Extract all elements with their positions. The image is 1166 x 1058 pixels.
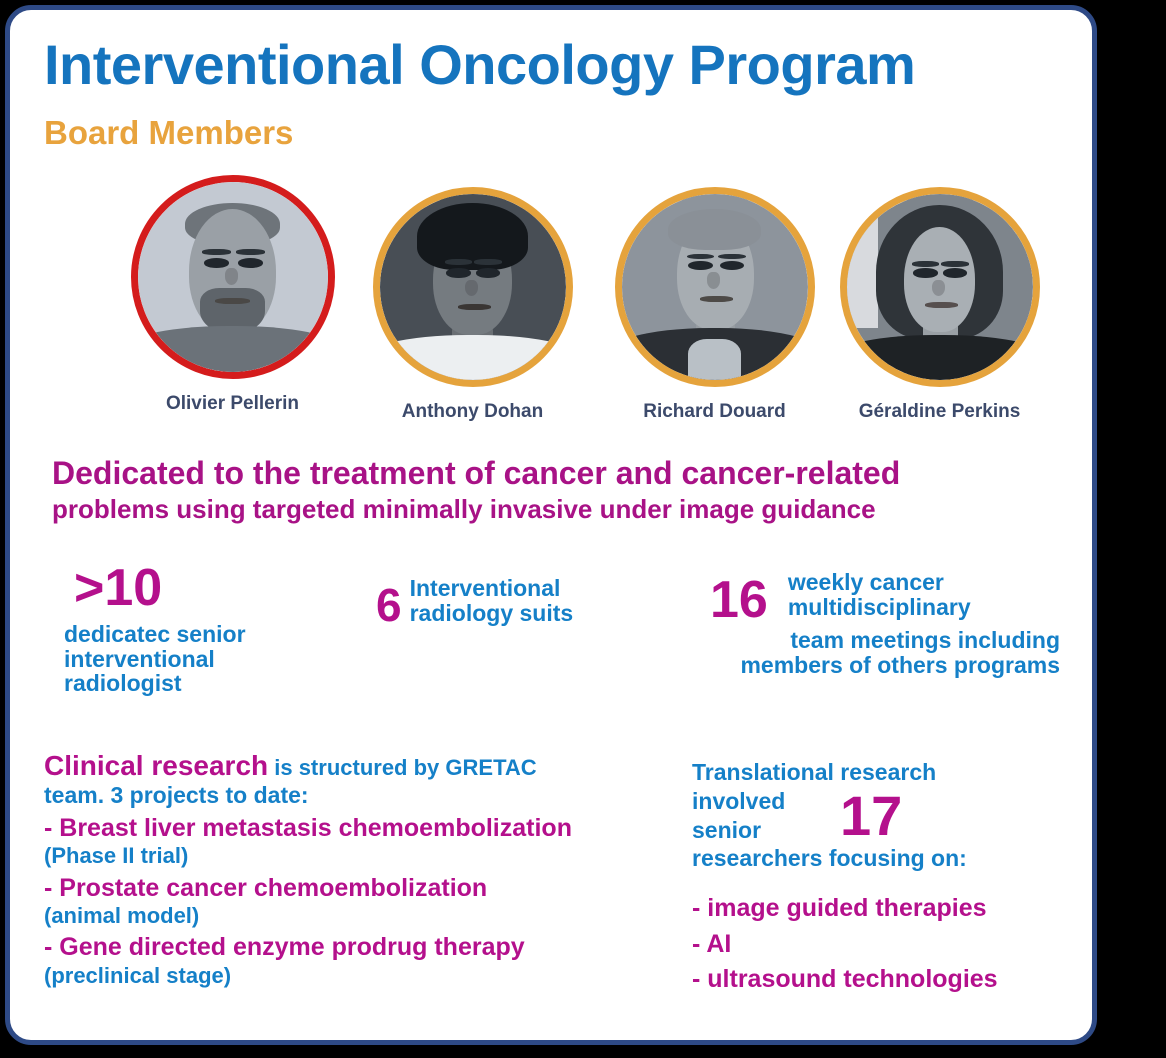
board-member-name: Olivier Pellerin	[125, 393, 340, 415]
stat-number: 16	[710, 574, 768, 626]
portrait-ring-3	[840, 187, 1040, 387]
focus-area-item: - AI	[692, 927, 1072, 963]
board-member-1: Anthony Dohan	[365, 187, 580, 423]
board-member-name: Richard Douard	[607, 401, 822, 423]
portrait-ring-1	[373, 187, 573, 387]
stat-radiology-suits: 6 Interventionalradiology suits	[376, 576, 636, 628]
stat-label: dedicatec seniorinterventionalradiologis…	[64, 622, 384, 696]
translational-focus-list: - image guided therapies - AI - ultrasou…	[692, 891, 1072, 998]
clinical-project-1: - Prostate cancer chemoembolization (ani…	[44, 874, 664, 929]
translational-research-text: Translational research involved senior r…	[692, 758, 1072, 873]
portrait-ring-0	[131, 175, 335, 379]
statistics-row: >10 dedicatec seniorinterventionalradiol…	[10, 562, 1092, 712]
portrait-photo-olivier-pellerin	[138, 182, 328, 372]
section-subtitle-board-members: Board Members	[44, 114, 293, 152]
board-member-name: Géraldine Perkins	[832, 401, 1047, 423]
board-member-name: Anthony Dohan	[365, 401, 580, 423]
translational-research-block: 17 Translational research involved senio…	[692, 758, 1072, 998]
translational-line-4: researchers focusing on:	[692, 844, 1072, 873]
board-members-row: Olivier Pellerin Anthony Dohan	[120, 175, 1060, 440]
portrait-photo-geraldine-perkins	[847, 194, 1033, 380]
mission-line-2: problems using targeted minimally invasi…	[52, 495, 1072, 524]
clinical-project-title: - Prostate cancer chemoembolization	[44, 874, 664, 904]
stat-senior-radiologists: >10 dedicatec seniorinterventionalradiol…	[64, 562, 384, 696]
portrait-photo-anthony-dohan	[380, 194, 566, 380]
focus-area-item: - image guided therapies	[692, 891, 1072, 927]
stat-label: Interventionalradiology suits	[410, 576, 574, 625]
mission-line-1: Dedicated to the treatment of cancer and…	[52, 457, 1072, 491]
clinical-project-note: (Phase II trial)	[44, 843, 664, 868]
clinical-research-heading: Clinical research is structured by GRETA…	[44, 750, 664, 781]
portrait-ring-2	[615, 187, 815, 387]
stat-weekly-meetings: 16 weekly cancermultidisciplinary team m…	[650, 570, 1060, 677]
clinical-research-heading-highlight: Clinical research	[44, 750, 268, 781]
board-member-3: Géraldine Perkins	[832, 187, 1047, 423]
poster-card: Interventional Oncology Program Board Me…	[5, 5, 1097, 1045]
page-title: Interventional Oncology Program	[44, 32, 915, 97]
portrait-photo-richard-douard	[622, 194, 808, 380]
clinical-research-heading-line2: team. 3 projects to date:	[44, 782, 664, 808]
clinical-research-block: Clinical research is structured by GRETA…	[44, 750, 664, 988]
clinical-project-2: - Gene directed enzyme prodrug therapy (…	[44, 933, 664, 988]
stat-label-top: weekly cancermultidisciplinary	[788, 570, 971, 619]
stat-label-bottom: team meetings includingmembers of others…	[650, 628, 1060, 677]
translational-line-1: Translational research	[692, 758, 1072, 787]
translational-line-3: senior	[692, 816, 1072, 845]
clinical-project-0: - Breast liver metastasis chemoembolizat…	[44, 814, 664, 869]
clinical-research-heading-rest: is structured by GRETAC	[268, 755, 537, 780]
mission-statement: Dedicated to the treatment of cancer and…	[52, 457, 1072, 524]
stat-number: 6	[376, 582, 402, 628]
clinical-project-title: - Breast liver metastasis chemoembolizat…	[44, 814, 664, 844]
board-member-0: Olivier Pellerin	[125, 175, 340, 415]
focus-area-item: - ultrasound technologies	[692, 962, 1072, 998]
clinical-project-note: (animal model)	[44, 903, 664, 928]
stat-number: >10	[74, 562, 384, 614]
board-member-2: Richard Douard	[607, 187, 822, 423]
clinical-project-title: - Gene directed enzyme prodrug therapy	[44, 933, 664, 963]
translational-line-2: involved	[692, 787, 1072, 816]
clinical-project-note: (preclinical stage)	[44, 963, 664, 988]
